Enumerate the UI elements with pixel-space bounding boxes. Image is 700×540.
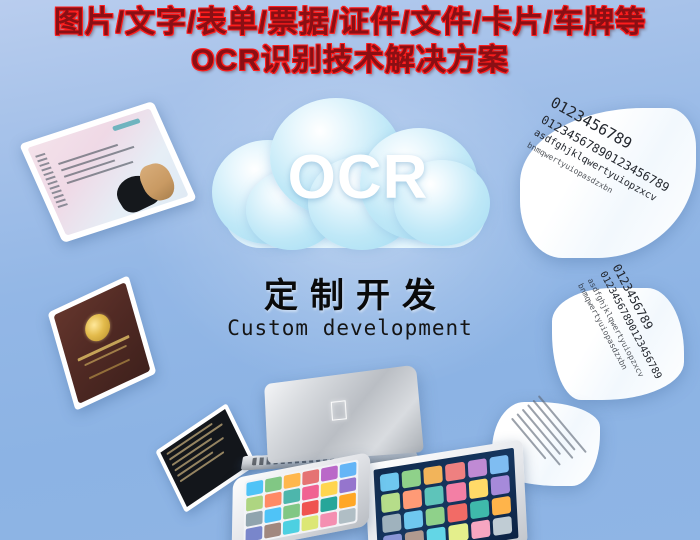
ocr-cloud-icon: OCR [212, 98, 504, 260]
tablet-app-grid [374, 448, 519, 540]
laptop-lid:  [264, 365, 424, 464]
id-card-face [27, 108, 188, 235]
tagline-english: Custom development [0, 316, 700, 340]
passport-bottom-line [89, 359, 130, 380]
cloud-label: OCR [212, 142, 504, 213]
headline-line-2: OCR识别技术解决方案 [0, 44, 700, 78]
number-sheet-document: 0123456789 01234567890123456789 asdfghjk… [520, 108, 696, 258]
ocr-poster: 图片/文字/表单/票据/证件/文件/卡片/车牌等 OCR识别技术解决方案 [0, 0, 700, 540]
headline-line-1: 图片/文字/表单/票据/证件/文件/卡片/车牌等 [0, 6, 700, 40]
apple-logo-icon:  [325, 395, 352, 427]
id-card-document [19, 101, 197, 243]
id-card-header-band [112, 118, 141, 131]
tagline-chinese: 定制开发 [0, 268, 700, 317]
headline: 图片/文字/表单/票据/证件/文件/卡片/车牌等 OCR识别技术解决方案 [0, 6, 700, 77]
